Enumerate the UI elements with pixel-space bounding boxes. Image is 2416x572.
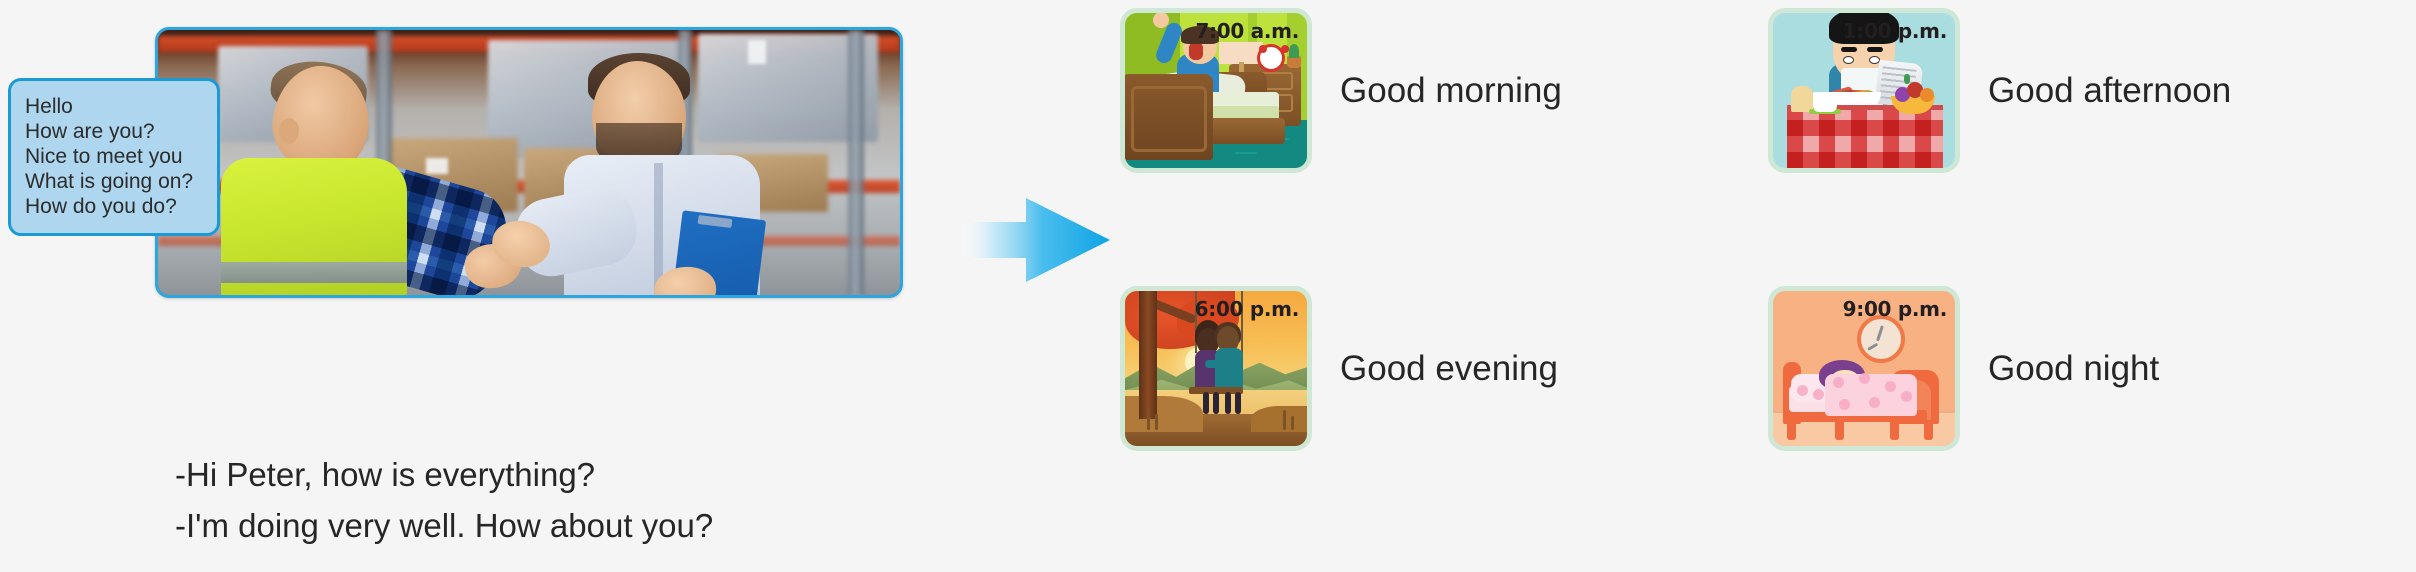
girl-leg [1203, 392, 1209, 414]
floor-line [1235, 152, 1257, 154]
right-bank [1251, 406, 1307, 432]
grass-blade [1147, 408, 1150, 430]
bubble-line-4: What is going on? [25, 169, 203, 194]
wall-clock-icon [1857, 315, 1905, 363]
grass-blade [1291, 416, 1294, 430]
worker-person [213, 66, 513, 295]
boy-arm-around-girl [1205, 360, 1239, 368]
plant-leaf [1289, 44, 1299, 58]
bubble-line-5: How do you do? [25, 194, 203, 219]
greeting-label-night: Good night [1988, 349, 2159, 389]
man-eyebrow [1867, 47, 1883, 52]
blanket-flower [1859, 373, 1870, 384]
greeting-label-evening: Good evening [1340, 349, 1558, 389]
fruit-leaf [1904, 74, 1910, 84]
checkered-tablecloth [1787, 110, 1943, 168]
vest-reflective-stripe [221, 262, 407, 283]
blanket-flower [1833, 377, 1844, 388]
right-arrow-icon [960, 190, 1110, 285]
dialogue-line-1: -Hi Peter, how is everything? [175, 452, 595, 497]
pillow-flower [1797, 385, 1808, 396]
blanket-flower [1839, 399, 1850, 410]
boy-leg [1235, 392, 1241, 414]
handshake-warehouse-photo [155, 27, 903, 298]
left-bank [1125, 396, 1203, 432]
grass-blade [1155, 414, 1158, 430]
speech-bubble: Hello How are you? Nice to meet you What… [8, 78, 220, 236]
right-arrow [960, 190, 1110, 285]
tree-trunk [1139, 291, 1157, 419]
time-label-morning: 7:00 a.m. [1195, 19, 1299, 43]
greeting-label-afternoon: Good afternoon [1988, 71, 2231, 111]
greeting-item-morning: 7:00 a.m. Good morning [1120, 8, 1562, 173]
alarm-bell [1281, 45, 1289, 53]
worker-ear [279, 118, 299, 144]
man-yawning-mouth [1189, 42, 1203, 60]
pillow-flower [1813, 389, 1824, 400]
alarm-bell [1259, 45, 1267, 53]
left-panel: Hello How are you? Nice to meet you What… [0, 0, 960, 572]
card-evening[interactable]: 6:00 p.m. [1120, 286, 1312, 451]
boy-leg [1225, 392, 1231, 414]
blanket-flower [1869, 397, 1880, 408]
greeting-item-afternoon: 1:00 p.m. Good afternoon [1768, 8, 2231, 173]
coffee-cup [1813, 92, 1837, 112]
greeting-item-evening: 6:00 p.m. Good evening [1120, 286, 1558, 451]
bread-slice [1791, 86, 1813, 112]
card-afternoon[interactable]: 1:00 p.m. [1768, 8, 1960, 173]
photo-content [158, 30, 900, 295]
manager-person [558, 51, 858, 295]
time-label-evening: 6:00 p.m. [1195, 297, 1299, 321]
man-eyebrow [1841, 47, 1857, 52]
bubble-line-1: Hello [25, 94, 203, 119]
bed-footboard-panel [1131, 86, 1207, 152]
time-label-night: 9:00 p.m. [1843, 297, 1947, 321]
girl-leg [1213, 392, 1219, 414]
boy-body [1215, 348, 1243, 390]
fruit-orange [1920, 88, 1934, 102]
bubble-line-3: Nice to meet you [25, 144, 203, 169]
greeting-item-night: 9:00 p.m. Good night [1768, 286, 2159, 451]
card-morning[interactable]: 7:00 a.m. [1120, 8, 1312, 173]
blanket-flower [1885, 381, 1896, 392]
greeting-label-morning: Good morning [1340, 71, 1562, 111]
dialogue-line-2: -I'm doing very well. How about you? [175, 503, 713, 548]
time-label-afternoon: 1:00 p.m. [1843, 19, 1947, 43]
card-night[interactable]: 9:00 p.m. [1768, 286, 1960, 451]
grass-blade [1283, 410, 1286, 430]
bubble-line-2: How are you? [25, 119, 203, 144]
greetings-grid: 7:00 a.m. Good morning [1120, 0, 2416, 572]
blanket-flower [1901, 391, 1912, 402]
